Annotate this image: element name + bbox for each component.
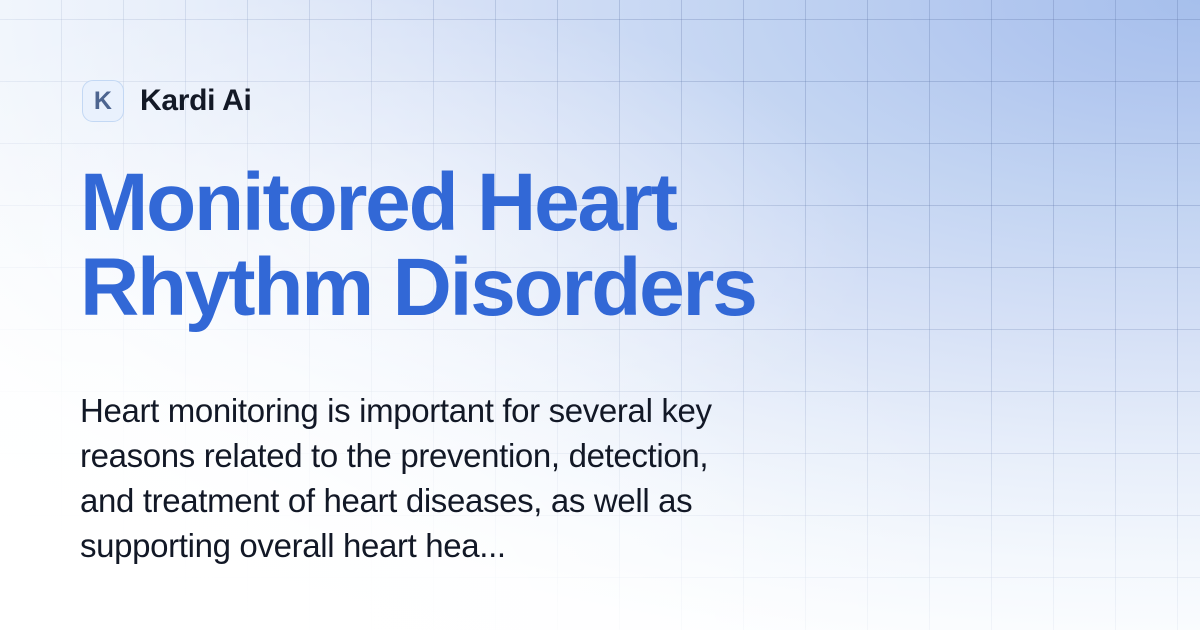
brand-logo-icon: K	[82, 80, 124, 122]
page-title: Monitored Heart Rhythm Disorders	[80, 160, 1080, 330]
card-content: K Kardi Ai Monitored Heart Rhythm Disord…	[0, 0, 1200, 630]
og-share-card: K Kardi Ai Monitored Heart Rhythm Disord…	[0, 0, 1200, 630]
brand-name-label: Kardi Ai	[140, 86, 252, 116]
page-title-line-2: Rhythm Disorders	[80, 245, 1080, 330]
page-description-line-4: supporting overall heart hea...	[80, 523, 880, 568]
page-description-line-2: reasons related to the prevention, detec…	[80, 433, 880, 478]
page-description-line-1: Heart monitoring is important for severa…	[80, 388, 880, 433]
page-description-line-3: and treatment of heart diseases, as well…	[80, 478, 880, 523]
brand-lockup: K Kardi Ai	[82, 80, 252, 122]
page-title-line-1: Monitored Heart	[80, 160, 1080, 245]
page-description: Heart monitoring is important for severa…	[80, 388, 880, 568]
